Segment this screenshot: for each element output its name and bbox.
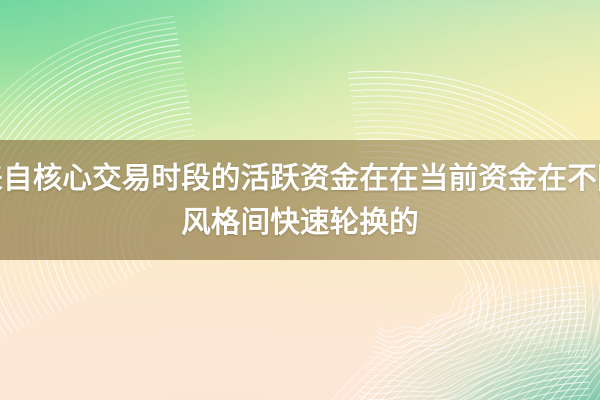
caption-line-1: 来自核心交易时段的活跃资金在在当前资金在不同 bbox=[0, 156, 600, 200]
banner-image: 来自核心交易时段的活跃资金在在当前资金在不同 风格间快速轮换的 bbox=[0, 0, 600, 400]
caption-line-2: 风格间快速轮换的 bbox=[181, 200, 419, 244]
caption-overlay-band: 来自核心交易时段的活跃资金在在当前资金在不同 风格间快速轮换的 bbox=[0, 140, 600, 260]
